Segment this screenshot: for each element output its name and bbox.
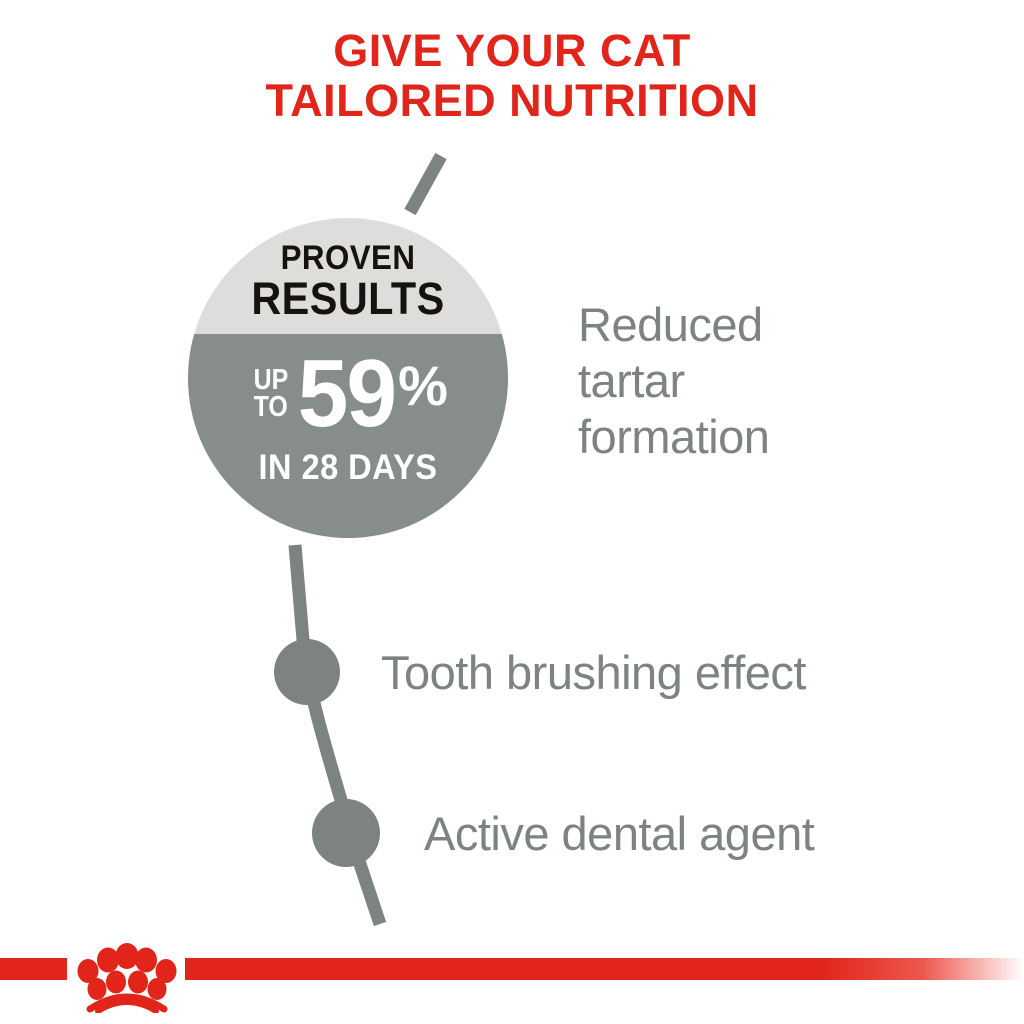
badge-up-to-label: UP TO bbox=[254, 367, 289, 421]
infographic-canvas: GIVE YOUR CAT TAILORED NUTRITION PROVEN … bbox=[0, 0, 1024, 1024]
royal-canin-crown-icon bbox=[68, 927, 186, 1013]
headline-line-2: TAILORED NUTRITION bbox=[0, 76, 1024, 126]
benefit-reduced-tartar-formation: Reduced tartar formation bbox=[578, 297, 978, 465]
benefit-line: Active dental agent bbox=[424, 806, 1024, 862]
proven-results-badge: PROVEN RESULTS UP TO 59 % IN 28 DAYS bbox=[188, 218, 508, 538]
badge-proven-label: PROVEN bbox=[201, 240, 495, 276]
badge-heading: PROVEN RESULTS bbox=[188, 240, 508, 322]
benefit-active-dental-agent: Active dental agent bbox=[424, 806, 1024, 862]
headline-line-1: GIVE YOUR CAT bbox=[0, 26, 1024, 76]
benefit-line: Reduced bbox=[578, 297, 978, 353]
badge-duration-label: IN 28 DAYS bbox=[199, 450, 497, 486]
badge-percent-sign: % bbox=[398, 358, 448, 414]
brand-bar-right-segment bbox=[185, 958, 1024, 980]
badge-statistic: UP TO 59 % bbox=[188, 346, 508, 442]
benefit-line: tartar bbox=[578, 353, 978, 409]
connector-line-icon bbox=[295, 545, 380, 924]
benefit-line: formation bbox=[578, 409, 978, 465]
connector-stub-icon bbox=[410, 156, 441, 212]
benefit-line: Tooth brushing effect bbox=[381, 645, 981, 701]
badge-results-label: RESULTS bbox=[201, 276, 495, 322]
bullet-dot-tooth-brushing-effect bbox=[274, 639, 340, 705]
badge-value: 59 bbox=[298, 346, 396, 442]
badge-to-label: TO bbox=[254, 394, 289, 421]
benefit-tooth-brushing-effect: Tooth brushing effect bbox=[381, 645, 981, 701]
brand-footer-bar bbox=[0, 958, 1024, 980]
connector-path-graphic bbox=[0, 0, 1024, 1024]
brand-bar-left-segment bbox=[0, 958, 67, 980]
badge-up-label: UP bbox=[254, 367, 289, 394]
page-title: GIVE YOUR CAT TAILORED NUTRITION bbox=[0, 26, 1024, 126]
bullet-dot-active-dental-agent bbox=[312, 799, 380, 867]
